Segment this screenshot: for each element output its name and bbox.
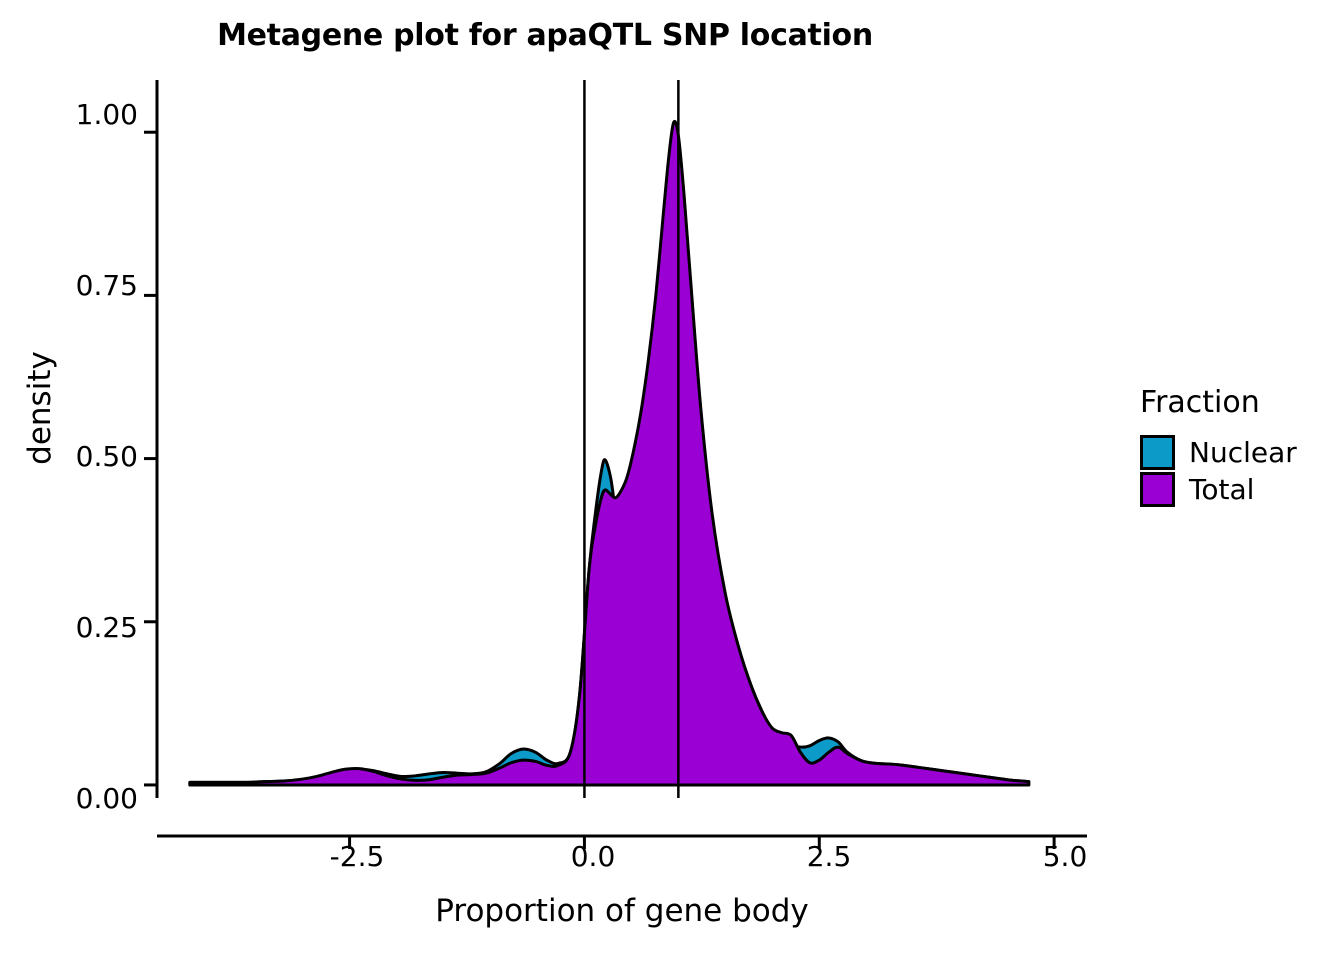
y-tick-label-1-00: 1.00 xyxy=(38,101,138,129)
y-tick-label-0-25: 0.25 xyxy=(38,614,138,642)
plot-panel xyxy=(157,80,1087,798)
legend-item-nuclear[interactable]: Nuclear xyxy=(1140,434,1340,471)
legend-label-total: Total xyxy=(1189,473,1254,506)
density-area-total xyxy=(190,121,1029,785)
page-title: Metagene plot for apaQTL SNP location xyxy=(0,18,1090,53)
x-tick-label-5-0: 5.0 xyxy=(1005,840,1125,873)
x-tick-label-0-0: 0.0 xyxy=(533,840,653,873)
legend-title: Fraction xyxy=(1140,385,1340,420)
x-axis-title: Proportion of gene body xyxy=(157,893,1087,929)
series-layer xyxy=(190,121,1029,785)
y-tick-label-0-50: 0.50 xyxy=(38,443,138,471)
legend-label-nuclear: Nuclear xyxy=(1189,436,1297,469)
legend-key-nuclear xyxy=(1140,435,1175,470)
legend: Fraction Nuclear Total xyxy=(1140,385,1340,508)
y-tick-label-0-75: 0.75 xyxy=(38,272,138,300)
legend-item-total[interactable]: Total xyxy=(1140,471,1340,508)
x-tick-label-neg2-5: -2.5 xyxy=(297,840,417,873)
density-plot-svg xyxy=(157,80,1087,798)
y-axis-tick-labels: 1.00 0.75 0.50 0.25 0.00 xyxy=(33,0,138,960)
chart-page: Metagene plot for apaQTL SNP location de… xyxy=(0,0,1344,960)
x-tick-label-2-5: 2.5 xyxy=(769,840,889,873)
y-tick-label-0-00: 0.00 xyxy=(38,785,138,813)
legend-key-total xyxy=(1140,472,1175,507)
